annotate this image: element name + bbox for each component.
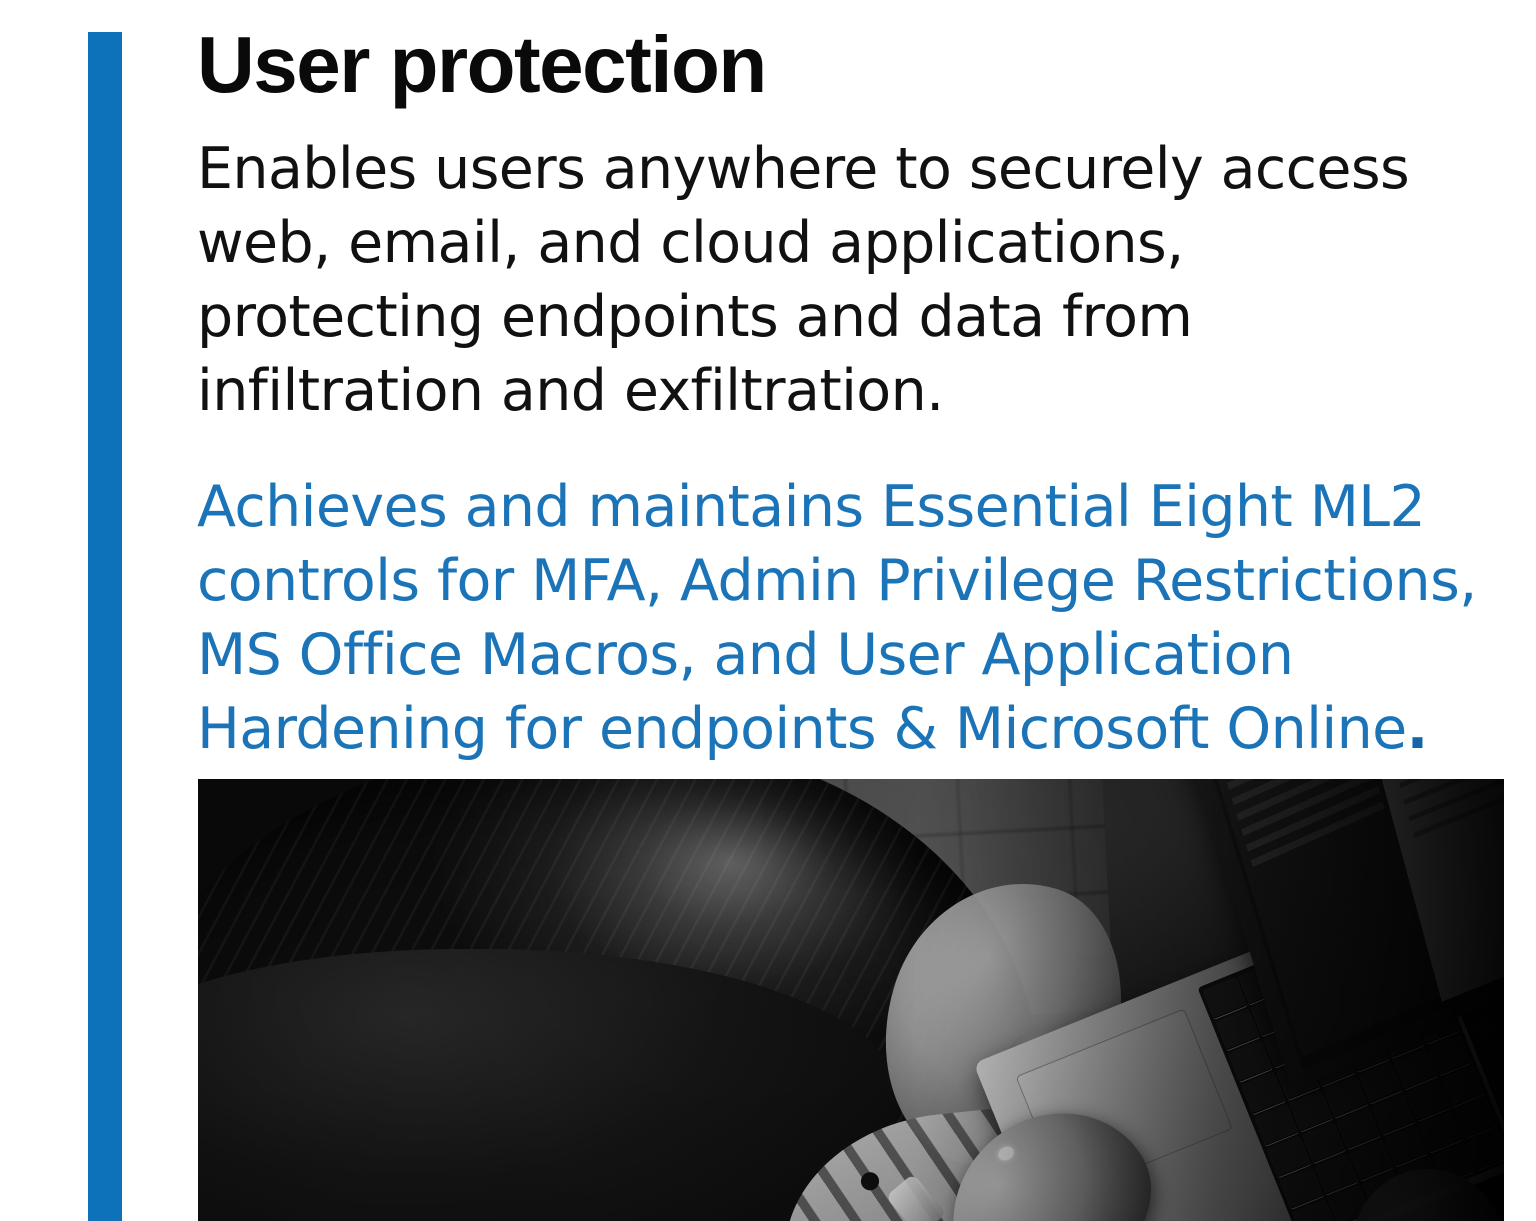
content-column: User protection Enables users anywhere t… bbox=[197, 0, 1507, 766]
slide-root: User protection Enables users anywhere t… bbox=[0, 0, 1536, 1221]
highlight-text: Achieves and maintains Essential Eight M… bbox=[197, 474, 1477, 762]
highlight-paragraph: Achieves and maintains Essential Eight M… bbox=[197, 470, 1497, 766]
highlight-end-punctuation: . bbox=[1407, 696, 1428, 762]
left-accent-bar bbox=[88, 32, 122, 1221]
photo-frame bbox=[198, 779, 1504, 1221]
description-paragraph: Enables users anywhere to securely acces… bbox=[197, 132, 1467, 428]
photo-image bbox=[198, 779, 1504, 1221]
page-title: User protection bbox=[197, 0, 1507, 113]
